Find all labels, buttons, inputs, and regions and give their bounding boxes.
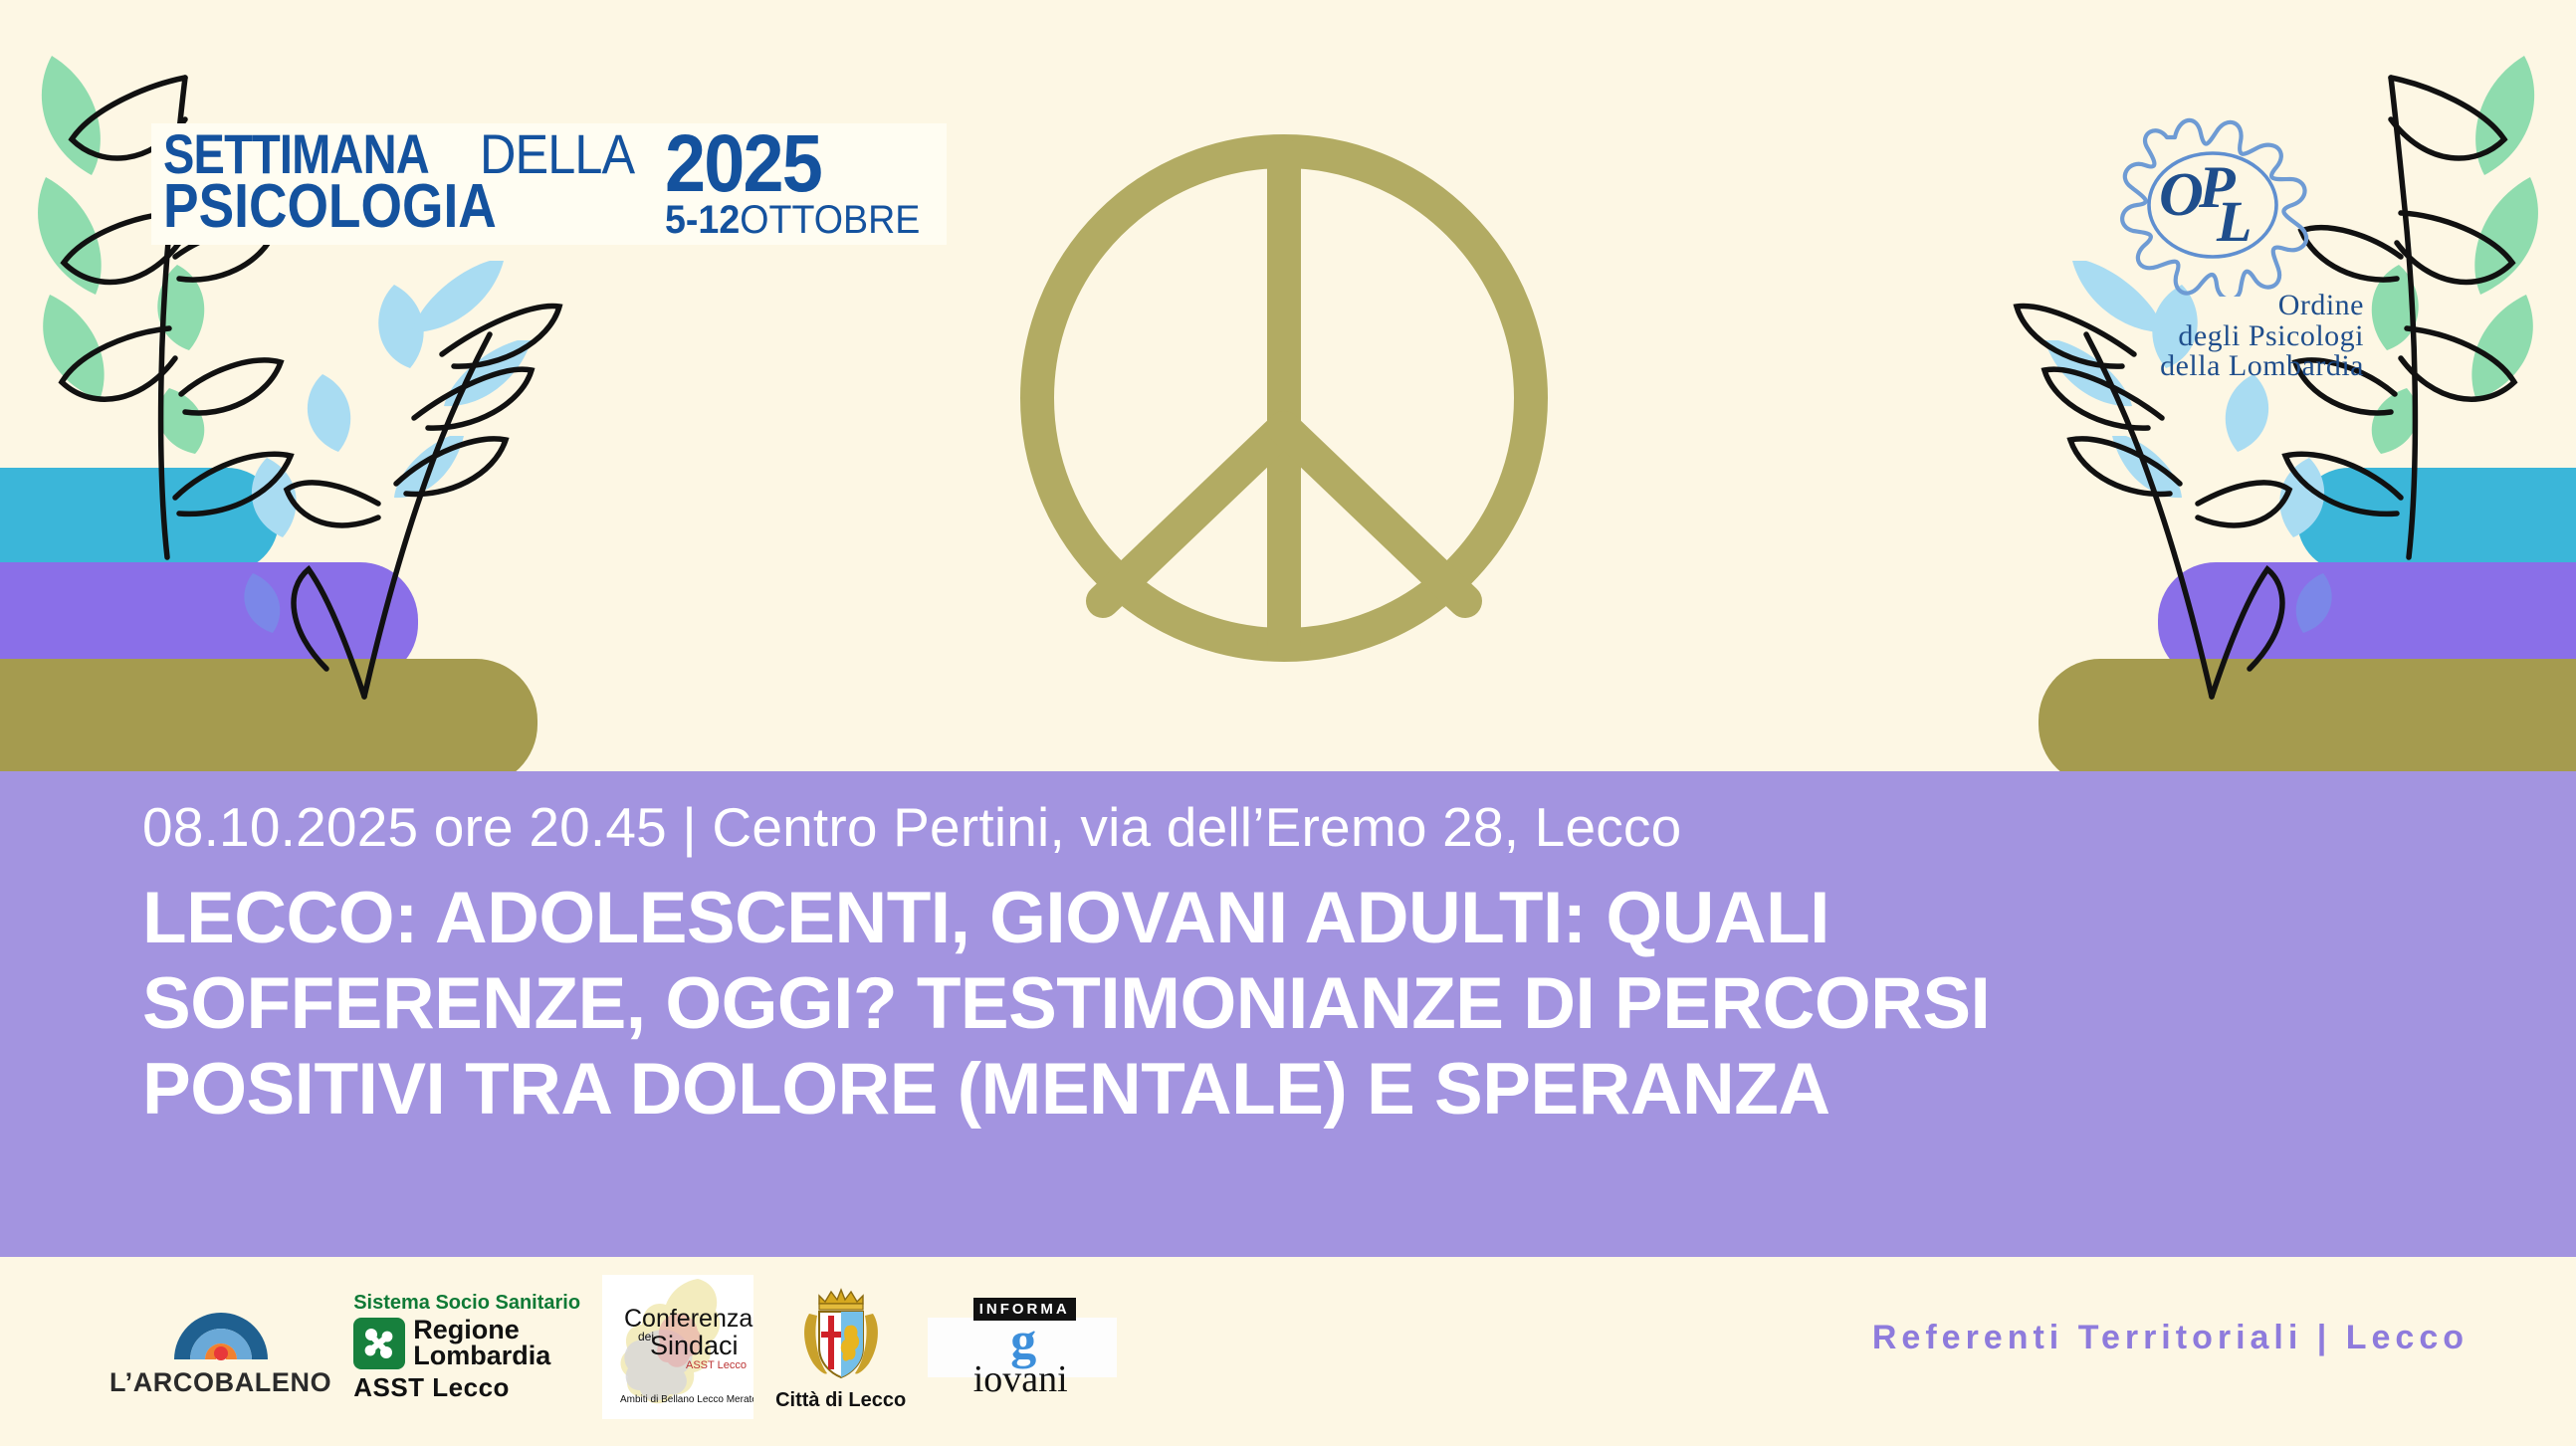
- campaign-logo-psicologia: PSICOLOGIA: [163, 180, 582, 235]
- event-title: LECCO: ADOLESCENTI, GIOVANI ADULTI: QUAL…: [142, 876, 2462, 1133]
- referents-label: Referenti Territoriali | Lecco: [1872, 1319, 2469, 1357]
- partner-logo-conferenza-sindaci: Conferenza dei Sindaci ASST Lecco Ambiti…: [602, 1275, 753, 1419]
- event-band: 08.10.2025 ore 20.45 | Centro Pertini, v…: [0, 771, 2576, 1257]
- partner-label-arcobaleno: L’ARCOBALENO: [109, 1367, 331, 1398]
- rainbow-icon: [166, 1296, 276, 1363]
- bar-purple: [0, 562, 418, 682]
- leaf-shadow-group-green: [38, 56, 204, 454]
- campaign-logo-della: DELLA: [480, 129, 634, 178]
- event-title-line-1: LECCO: ADOLESCENTI, GIOVANI ADULTI: QUAL…: [142, 876, 2462, 961]
- opl-line-lombardia: della Lombardia: [2095, 351, 2364, 382]
- partner-logos: L’ARCOBALENO Sistema Socio Sanitario: [109, 1275, 1117, 1419]
- partner-logo-informagiovani: INFORMA g iovani: [928, 1318, 1117, 1377]
- leaf-shadow-group-blue: [308, 261, 532, 498]
- leaf-shadow-extra-2: [244, 573, 280, 633]
- left-decoration: [0, 0, 617, 796]
- event-title-line-3: POSITIVI TRA DOLORE (MENTALE) E SPERANZA: [142, 1047, 2462, 1133]
- opl-line-psicologi: degli Psicologi: [2095, 321, 2364, 352]
- cs-word-sindaci: Sindaci: [650, 1331, 739, 1360]
- informagiovani-rest: iovani: [973, 1362, 1068, 1396]
- sun-gear-icon: O P L: [2113, 107, 2312, 297]
- partner-logo-arcobaleno: L’ARCOBALENO: [109, 1296, 331, 1398]
- partner-logo-citta-di-lecco: Città di Lecco: [775, 1282, 906, 1412]
- campaign-logo-dates: 5-12: [665, 198, 740, 242]
- partner-logo-regione-lombardia: Sistema Socio Sanitario: [353, 1292, 580, 1403]
- event-when-line: 08.10.2025 ore 20.45 | Centro Pertini, v…: [142, 795, 1681, 859]
- footer: L’ARCOBALENO Sistema Socio Sanitario: [0, 1257, 2576, 1446]
- opl-logo: O P L Ordine degli Psicologi della Lomba…: [2095, 107, 2364, 382]
- camuna-rose-icon: [353, 1318, 405, 1369]
- campaign-logo-month: OTTOBRE: [740, 198, 920, 242]
- partner-label-citta: Città di Lecco: [775, 1389, 906, 1412]
- peace-symbol-icon: [1015, 129, 1553, 667]
- regione-brand-line-2: Lombardia: [413, 1343, 550, 1369]
- regione-brand-line-1: Regione: [413, 1318, 550, 1343]
- leaf-shadow-extra: [2279, 458, 2324, 537]
- cs-word-asst: ASST Lecco: [686, 1359, 747, 1371]
- campaign-logo-year: 2025: [665, 129, 909, 200]
- regione-bottom-label: ASST Lecco: [353, 1372, 510, 1403]
- bar-cyan: [0, 468, 279, 572]
- poster-canvas: SETTIMANADELLA PSICOLOGIA 2025 5-12OTTOB…: [0, 0, 2576, 1446]
- informagiovani-g: g: [1010, 1321, 1036, 1362]
- bar-purple: [2158, 562, 2576, 682]
- cs-caption: Ambiti di Bellano Lecco Merate: [620, 1394, 753, 1405]
- campaign-logo: SETTIMANADELLA PSICOLOGIA 2025 5-12OTTOB…: [151, 123, 947, 245]
- svg-text:O: O: [2159, 161, 2204, 229]
- cs-word-conferenza: Conferenza: [624, 1305, 752, 1333]
- plant-outline-right: [287, 307, 559, 697]
- bar-olive: [0, 659, 537, 786]
- leaf-shadow-extra: [252, 458, 297, 537]
- event-title-line-2: SOFFERENZE, OGGI? TESTIMONIANZE DI PERCO…: [142, 961, 2462, 1047]
- leaf-shadow-extra-2: [2296, 573, 2332, 633]
- bar-olive: [2039, 659, 2576, 786]
- regione-top-label: Sistema Socio Sanitario: [353, 1292, 580, 1315]
- campaign-logo-settimana: SETTIMANA: [163, 129, 429, 178]
- svg-text:L: L: [2216, 189, 2252, 254]
- bar-cyan: [2297, 468, 2576, 572]
- leaf-shadow-group-green: [2372, 56, 2538, 454]
- left-plants-graphic: [0, 0, 617, 796]
- lecco-coat-of-arms-icon: [793, 1282, 889, 1387]
